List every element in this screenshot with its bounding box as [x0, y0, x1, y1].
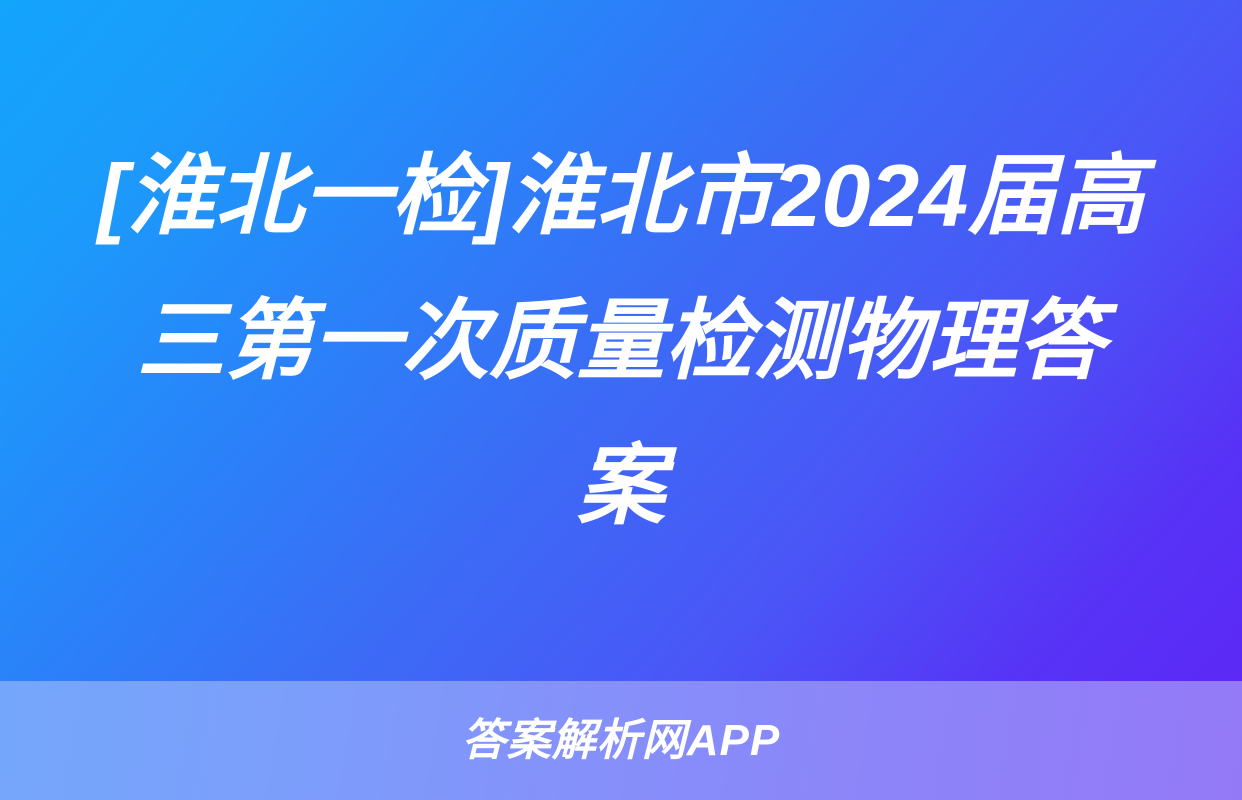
app-watermark-bar[interactable]: 答案解析网APP	[0, 681, 1242, 800]
app-brand-label: 答案解析网APP	[462, 719, 780, 763]
page-title: [淮北一检]淮北市2024届高三第一次质量检测物理答案	[96, 123, 1146, 558]
hero-banner: [淮北一检]淮北市2024届高三第一次质量检测物理答案	[0, 0, 1242, 681]
answer-cover-page: [淮北一检]淮北市2024届高三第一次质量检测物理答案 答案解析网APP	[0, 0, 1242, 800]
